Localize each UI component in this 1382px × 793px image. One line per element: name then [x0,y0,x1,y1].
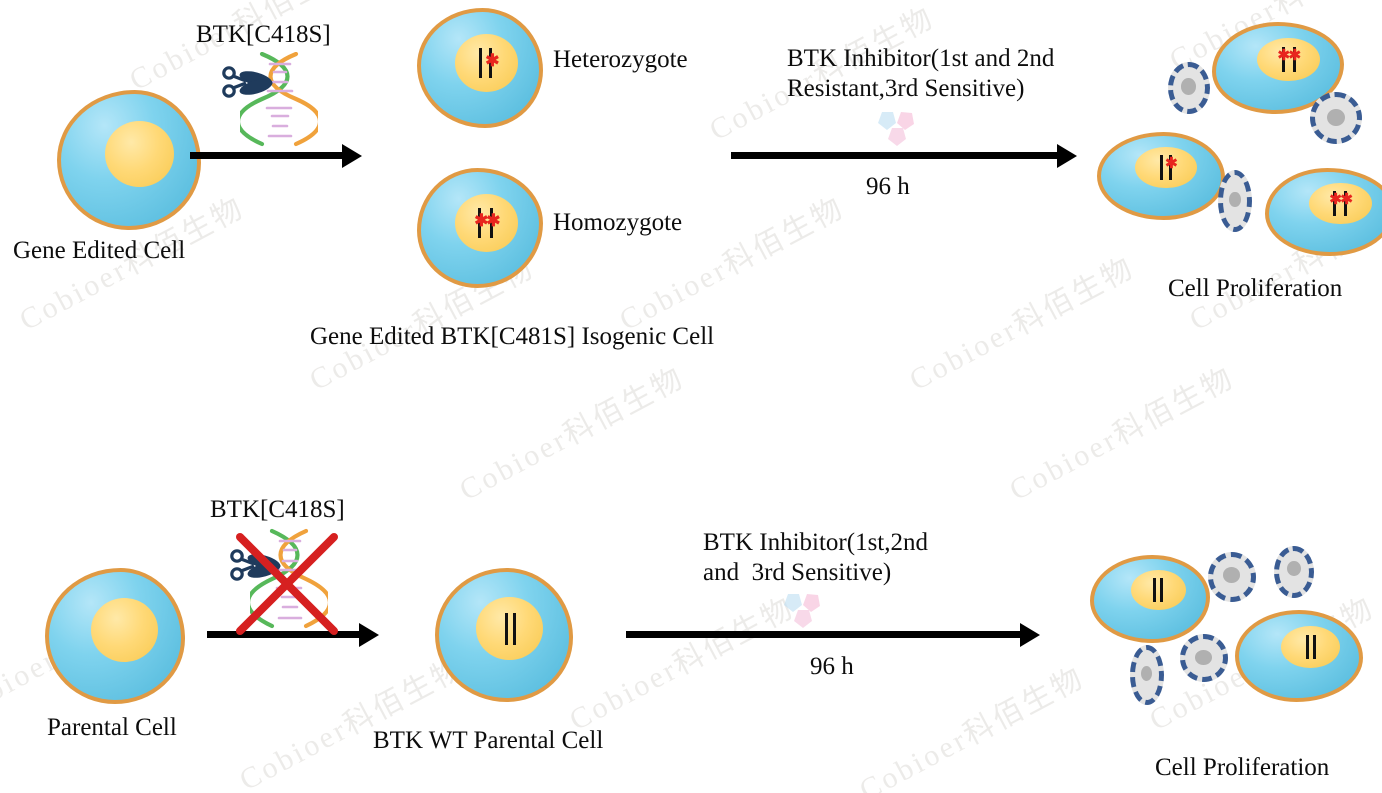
btk-wt-parental-cell [435,568,573,702]
duration-label-bottom: 96 h [810,652,854,683]
cell-nucleus: ✱ ✱ [455,194,518,252]
genotype-marker-homozygote: ✱ ✱ [1329,191,1351,216]
heterozygote-label: Heterozygote [553,45,688,76]
genotype-marker-wildtype [1304,635,1318,659]
dead-cell-nucleus [1141,666,1152,681]
cell-nucleus [105,121,174,187]
watermark-text: Cobioer科佰生物 [560,583,801,739]
watermark-text: Cobioer科佰生物 [850,653,1091,793]
duration-label-top: 96 h [866,172,910,203]
allele-bar [1160,155,1163,180]
watermark-text: Cobioer科佰生物 [900,243,1141,399]
watermark-layer: Cobioer科佰生物 Cobioer科佰生物 Cobioer科佰生物 Cobi… [0,0,1382,793]
drug-molecule-icon [868,108,924,154]
surviving-cell-wildtype [1235,610,1363,702]
inhibitor-label-bottom-line1: BTK Inhibitor(1st,2nd [703,528,928,559]
mutation-marker: ✱ [486,212,500,229]
dead-cell [1180,634,1228,682]
homozygote-label: Homozygote [553,208,682,239]
dead-cell-nucleus [1327,109,1345,127]
allele-bar [479,48,482,78]
cell-proliferation-label-top: Cell Proliferation [1168,274,1342,305]
parental-cell-label: Parental Cell [47,713,177,744]
cell-nucleus [91,598,158,662]
genotype-marker-heterozygote: ✱ [477,48,495,78]
cell-nucleus [1131,570,1186,610]
heterozygote-cell: ✱ [417,8,543,128]
genotype-marker-homozygote: ✱ ✱ [474,208,498,238]
watermark-text: Cobioer科佰生物 [610,183,851,339]
allele-bar [1160,578,1163,602]
drug-molecule-icon [774,590,830,636]
treatment-arrow-bottom [626,631,1026,638]
allele-bar [1153,578,1156,602]
mutation-marker: ✱ [1289,49,1302,64]
inhibitor-label-top-line2: Resistant,3rd Sensitive) [787,74,1024,105]
cell-nucleus: ✱ [1135,147,1196,188]
genotype-marker-homozygote: ✱ ✱ [1278,47,1300,72]
mutation-marker: ✱ [1165,157,1178,172]
cell-proliferation-label-bottom: Cell Proliferation [1155,753,1329,784]
watermark-text: Cobioer科佰生物 [1000,353,1241,509]
mutation-marker: ✱ [1340,193,1353,208]
edit-reagent-label-bottom: BTK[C418S] [210,495,345,526]
dead-cell-nucleus [1223,567,1240,583]
dead-cell-nucleus [1287,561,1301,576]
watermark-text: Cobioer科佰生物 [450,353,691,509]
gene-edited-cell-label: Gene Edited Cell [13,236,185,267]
homozygote-cell: ✱ ✱ [417,168,543,288]
dead-cell-nucleus [1181,78,1196,95]
dead-cell [1168,62,1210,114]
proliferating-cell-homozygote: ✱ ✱ [1265,168,1382,256]
inhibitor-label-top-line1: BTK Inhibitor(1st and 2nd [787,44,1054,75]
cell-nucleus: ✱ ✱ [1257,38,1320,81]
surviving-cell-wildtype [1090,555,1210,643]
dead-cell-nucleus [1195,650,1212,665]
diagram-canvas: Cobioer科佰生物 Cobioer科佰生物 Cobioer科佰生物 Cobi… [0,0,1382,793]
red-cross-out-icon [233,530,341,638]
mutation-marker: ✱ [485,52,499,69]
genotype-marker-wildtype [502,613,518,645]
allele-bar [1306,635,1309,659]
proliferating-cell-heterozygote: ✱ [1097,132,1225,220]
allele-bar [513,613,516,645]
allele-bar [1313,635,1316,659]
btk-wt-parental-cell-label: BTK WT Parental Cell [373,726,603,757]
cell-nucleus [1281,626,1340,668]
dead-cell [1274,546,1314,598]
dead-cell [1218,170,1252,232]
genotype-marker-heterozygote: ✱ [1158,155,1174,180]
isogenic-cell-caption: Gene Edited BTK[C481S] Isogenic Cell [310,322,714,353]
edit-arrow-top [190,152,348,159]
crispr-scissors-icon [222,62,274,102]
dead-cell [1310,92,1362,144]
dead-cell-nucleus [1229,192,1241,208]
inhibitor-label-bottom-line2: and 3rd Sensitive) [703,558,891,589]
gene-edited-start-cell [57,90,201,230]
treatment-arrow-top [731,152,1063,159]
edit-reagent-label-top: BTK[C418S] [196,20,331,51]
genotype-marker-wildtype [1151,578,1165,602]
dead-cell [1130,645,1164,705]
cell-nucleus: ✱ [455,34,518,92]
cell-nucleus: ✱ ✱ [1309,183,1371,224]
allele-bar [505,613,508,645]
dead-cell [1208,552,1256,602]
parental-start-cell [45,568,185,704]
cell-nucleus [476,597,542,660]
